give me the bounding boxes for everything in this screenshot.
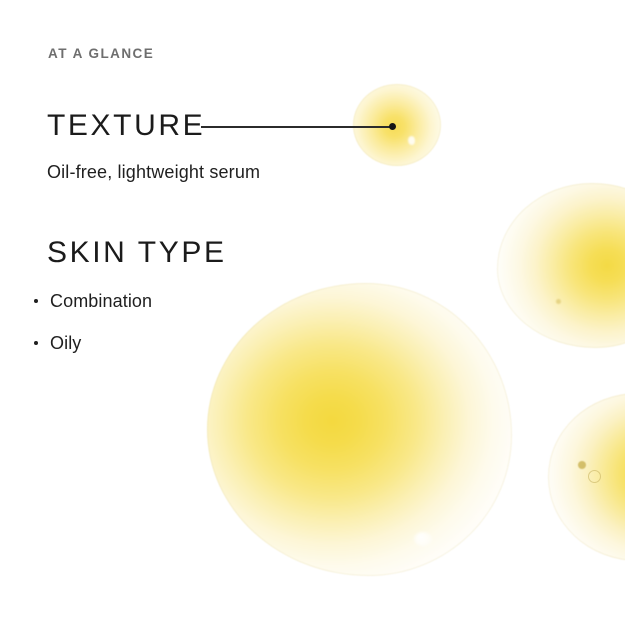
list-item: Oily: [33, 333, 152, 354]
at-a-glance-card: AT A GLANCE TEXTURE Oil-free, lightweigh…: [0, 0, 625, 625]
skin-type-item-label: Oily: [50, 333, 81, 353]
skin-type-list: Combination Oily: [33, 291, 152, 375]
skin-type-heading: SKIN TYPE: [47, 238, 227, 268]
texture-description: Oil-free, lightweight serum: [47, 163, 260, 181]
texture-connector-endpoint-dot: [389, 123, 396, 130]
texture-heading: TEXTURE: [47, 111, 205, 141]
list-item: Combination: [33, 291, 152, 312]
skin-type-item-label: Combination: [50, 291, 152, 311]
eyebrow-label: AT A GLANCE: [48, 47, 154, 61]
bullet-icon: [34, 299, 38, 303]
bullet-icon: [34, 341, 38, 345]
texture-connector-line: [201, 126, 394, 128]
card-content: AT A GLANCE TEXTURE Oil-free, lightweigh…: [0, 0, 625, 625]
